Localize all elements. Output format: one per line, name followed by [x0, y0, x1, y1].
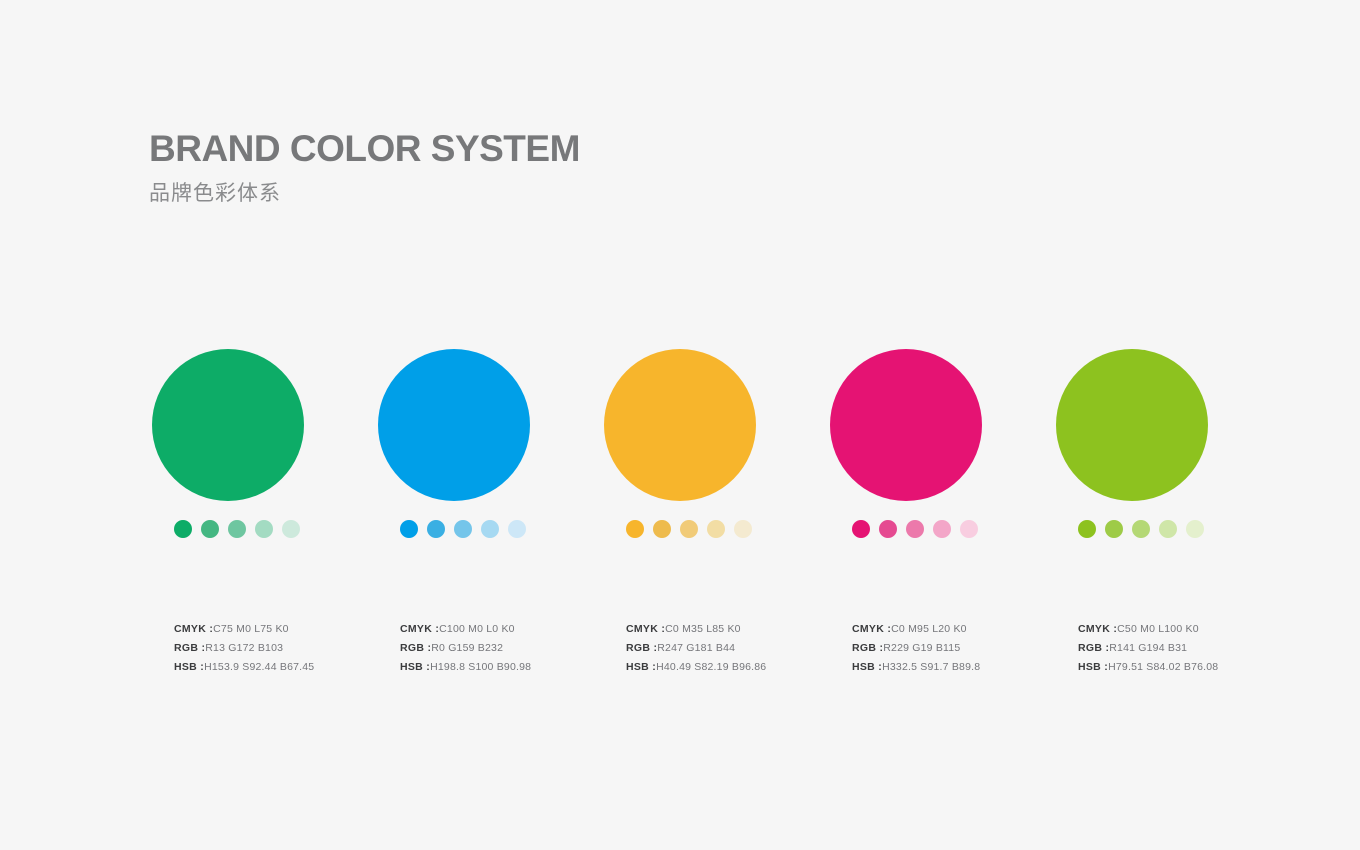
tint-dot-blue-2[interactable] [427, 520, 445, 538]
color-specs-blue: CMYK :C100 M0 L0 K0RGB :R0 G159 B232HSB … [400, 620, 578, 677]
spec-label-cmyk: CMYK : [626, 623, 665, 635]
tint-scale-yellow [626, 519, 804, 539]
spec-label-cmyk: CMYK : [400, 623, 439, 635]
tint-dot-yellow-2[interactable] [653, 520, 671, 538]
spec-line-hsb-green: HSB :H153.9 S92.44 B67.45 [174, 658, 352, 677]
spec-line-rgb-green: RGB :R13 G172 B103 [174, 639, 352, 658]
spec-value-rgb-blue: R0 G159 B232 [431, 642, 503, 654]
spec-value-rgb-magenta: R229 G19 B115 [883, 642, 960, 654]
tint-dot-magenta-1[interactable] [852, 520, 870, 538]
spec-line-hsb-blue: HSB :H198.8 S100 B90.98 [400, 658, 578, 677]
tint-dot-blue-4[interactable] [481, 520, 499, 538]
color-swatch-green[interactable]: CMYK :C75 M0 L75 K0RGB :R13 G172 B103HSB… [152, 349, 352, 677]
spec-label-cmyk: CMYK : [174, 623, 213, 635]
color-specs-magenta: CMYK :C0 M95 L20 K0RGB :R229 G19 B115HSB… [852, 620, 1030, 677]
tint-dot-lime-5[interactable] [1186, 520, 1204, 538]
spec-value-rgb-lime: R141 G194 B31 [1109, 642, 1187, 654]
color-swatch-lime[interactable]: CMYK :C50 M0 L100 K0RGB :R141 G194 B31HS… [1056, 349, 1256, 677]
tint-dot-magenta-5[interactable] [960, 520, 978, 538]
spec-label-rgb: RGB : [174, 642, 205, 654]
spec-label-hsb: HSB : [174, 661, 204, 673]
tint-dot-green-2[interactable] [201, 520, 219, 538]
spec-value-rgb-green: R13 G172 B103 [205, 642, 283, 654]
color-specs-lime: CMYK :C50 M0 L100 K0RGB :R141 G194 B31HS… [1078, 620, 1256, 677]
spec-line-cmyk-green: CMYK :C75 M0 L75 K0 [174, 620, 352, 639]
spec-line-rgb-blue: RGB :R0 G159 B232 [400, 639, 578, 658]
spec-label-hsb: HSB : [852, 661, 882, 673]
tint-scale-blue [400, 519, 578, 539]
spec-line-rgb-lime: RGB :R141 G194 B31 [1078, 639, 1256, 658]
swatch-circle-lime[interactable] [1056, 349, 1208, 501]
spec-label-rgb: RGB : [400, 642, 431, 654]
spec-label-hsb: HSB : [400, 661, 430, 673]
spec-value-hsb-blue: H198.8 S100 B90.98 [430, 661, 531, 673]
spec-line-rgb-magenta: RGB :R229 G19 B115 [852, 639, 1030, 658]
spec-label-hsb: HSB : [626, 661, 656, 673]
spec-value-hsb-yellow: H40.49 S82.19 B96.86 [656, 661, 766, 673]
tint-dot-green-1[interactable] [174, 520, 192, 538]
tint-scale-green [174, 519, 352, 539]
spec-value-cmyk-green: C75 M0 L75 K0 [213, 623, 289, 635]
tint-dot-green-3[interactable] [228, 520, 246, 538]
spec-label-rgb: RGB : [1078, 642, 1109, 654]
page-subtitle: 品牌色彩体系 [149, 181, 580, 206]
color-specs-yellow: CMYK :C0 M35 L85 K0RGB :R247 G181 B44HSB… [626, 620, 804, 677]
swatch-circle-blue[interactable] [378, 349, 530, 501]
spec-value-rgb-yellow: R247 G181 B44 [657, 642, 735, 654]
spec-line-cmyk-blue: CMYK :C100 M0 L0 K0 [400, 620, 578, 639]
color-swatch-magenta[interactable]: CMYK :C0 M95 L20 K0RGB :R229 G19 B115HSB… [830, 349, 1030, 677]
tint-scale-lime [1078, 519, 1256, 539]
tint-scale-magenta [852, 519, 1030, 539]
spec-line-cmyk-magenta: CMYK :C0 M95 L20 K0 [852, 620, 1030, 639]
spec-value-cmyk-yellow: C0 M35 L85 K0 [665, 623, 741, 635]
tint-dot-yellow-4[interactable] [707, 520, 725, 538]
color-swatch-yellow[interactable]: CMYK :C0 M35 L85 K0RGB :R247 G181 B44HSB… [604, 349, 804, 677]
tint-dot-yellow-1[interactable] [626, 520, 644, 538]
spec-line-rgb-yellow: RGB :R247 G181 B44 [626, 639, 804, 658]
spec-value-cmyk-blue: C100 M0 L0 K0 [439, 623, 515, 635]
spec-line-hsb-magenta: HSB :H332.5 S91.7 B89.8 [852, 658, 1030, 677]
spec-line-cmyk-yellow: CMYK :C0 M35 L85 K0 [626, 620, 804, 639]
spec-label-cmyk: CMYK : [852, 623, 891, 635]
spec-value-cmyk-lime: C50 M0 L100 K0 [1117, 623, 1199, 635]
spec-label-hsb: HSB : [1078, 661, 1108, 673]
tint-dot-blue-1[interactable] [400, 520, 418, 538]
tint-dot-magenta-2[interactable] [879, 520, 897, 538]
tint-dot-lime-1[interactable] [1078, 520, 1096, 538]
tint-dot-lime-3[interactable] [1132, 520, 1150, 538]
tint-dot-yellow-3[interactable] [680, 520, 698, 538]
tint-dot-green-4[interactable] [255, 520, 273, 538]
tint-dot-blue-3[interactable] [454, 520, 472, 538]
color-swatch-blue[interactable]: CMYK :C100 M0 L0 K0RGB :R0 G159 B232HSB … [378, 349, 578, 677]
swatch-circle-yellow[interactable] [604, 349, 756, 501]
page-header: BRAND COLOR SYSTEM 品牌色彩体系 [149, 130, 580, 206]
spec-label-cmyk: CMYK : [1078, 623, 1117, 635]
tint-dot-magenta-4[interactable] [933, 520, 951, 538]
spec-value-hsb-magenta: H332.5 S91.7 B89.8 [882, 661, 980, 673]
tint-dot-blue-5[interactable] [508, 520, 526, 538]
spec-value-cmyk-magenta: C0 M95 L20 K0 [891, 623, 967, 635]
spec-line-cmyk-lime: CMYK :C50 M0 L100 K0 [1078, 620, 1256, 639]
tint-dot-yellow-5[interactable] [734, 520, 752, 538]
swatch-circle-magenta[interactable] [830, 349, 982, 501]
spec-line-hsb-yellow: HSB :H40.49 S82.19 B96.86 [626, 658, 804, 677]
color-specs-green: CMYK :C75 M0 L75 K0RGB :R13 G172 B103HSB… [174, 620, 352, 677]
spec-label-rgb: RGB : [626, 642, 657, 654]
spec-value-hsb-green: H153.9 S92.44 B67.45 [204, 661, 314, 673]
tint-dot-lime-4[interactable] [1159, 520, 1177, 538]
tint-dot-magenta-3[interactable] [906, 520, 924, 538]
tint-dot-lime-2[interactable] [1105, 520, 1123, 538]
page-title: BRAND COLOR SYSTEM [149, 130, 580, 169]
spec-line-hsb-lime: HSB :H79.51 S84.02 B76.08 [1078, 658, 1256, 677]
swatch-circle-green[interactable] [152, 349, 304, 501]
color-swatch-row: CMYK :C75 M0 L75 K0RGB :R13 G172 B103HSB… [152, 349, 1232, 689]
brand-color-system-page: BRAND COLOR SYSTEM 品牌色彩体系 CMYK :C75 M0 L… [0, 0, 1360, 850]
tint-dot-green-5[interactable] [282, 520, 300, 538]
spec-value-hsb-lime: H79.51 S84.02 B76.08 [1108, 661, 1218, 673]
spec-label-rgb: RGB : [852, 642, 883, 654]
